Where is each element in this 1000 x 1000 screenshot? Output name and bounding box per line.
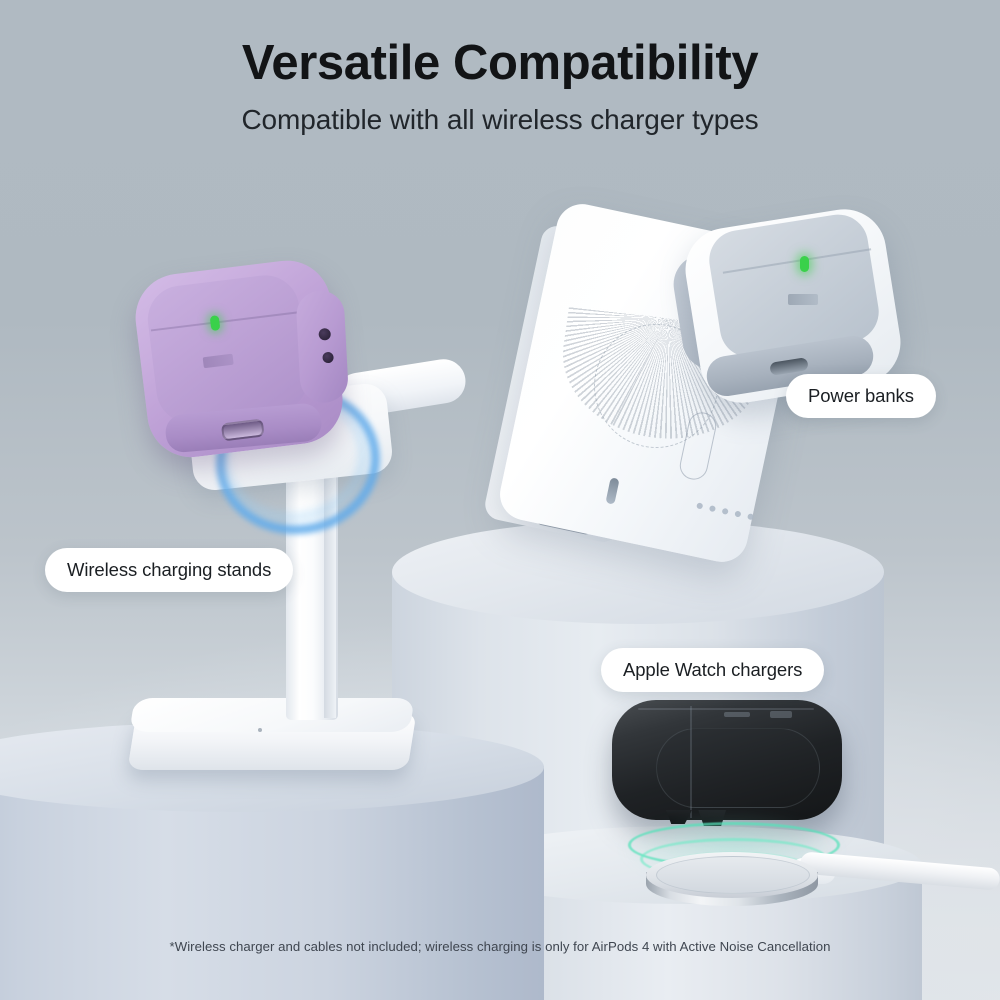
page-title: Versatile Compatibility [0,36,1000,91]
esr-logo-icon [788,294,818,305]
airpods-case-purple [131,254,364,478]
battery-led-5 [747,513,754,520]
black-case-mark-left [724,712,750,717]
callout-apple-watch-chargers: Apple Watch chargers [601,648,824,692]
battery-led-4 [734,510,741,517]
product-marketing-scene: Versatile Compatibility Compatible with … [0,0,1000,1000]
puck-rim [656,856,810,894]
stand-base-top [129,698,414,732]
purple-case-lid [144,271,312,426]
callout-power-banks: Power banks [786,374,936,418]
battery-led-1 [696,502,703,509]
status-led-icon [210,315,221,331]
page-subtitle: Compatible with all wireless charger typ… [0,104,1000,136]
black-case-face-panel [656,728,820,808]
battery-led-3 [722,508,729,515]
purple-case-side-panel [295,290,349,404]
black-case-top-line [638,708,814,710]
stand-indicator-dot [258,728,262,732]
black-case-mark-right [770,711,792,718]
battery-led-2 [709,505,716,512]
callout-wireless-charging-stands: Wireless charging stands [45,548,293,592]
black-case-seam [690,706,692,818]
status-led-icon [800,256,809,272]
apple-watch-charger-puck [646,852,818,914]
footnote-disclaimer: *Wireless charger and cables not include… [0,939,1000,954]
